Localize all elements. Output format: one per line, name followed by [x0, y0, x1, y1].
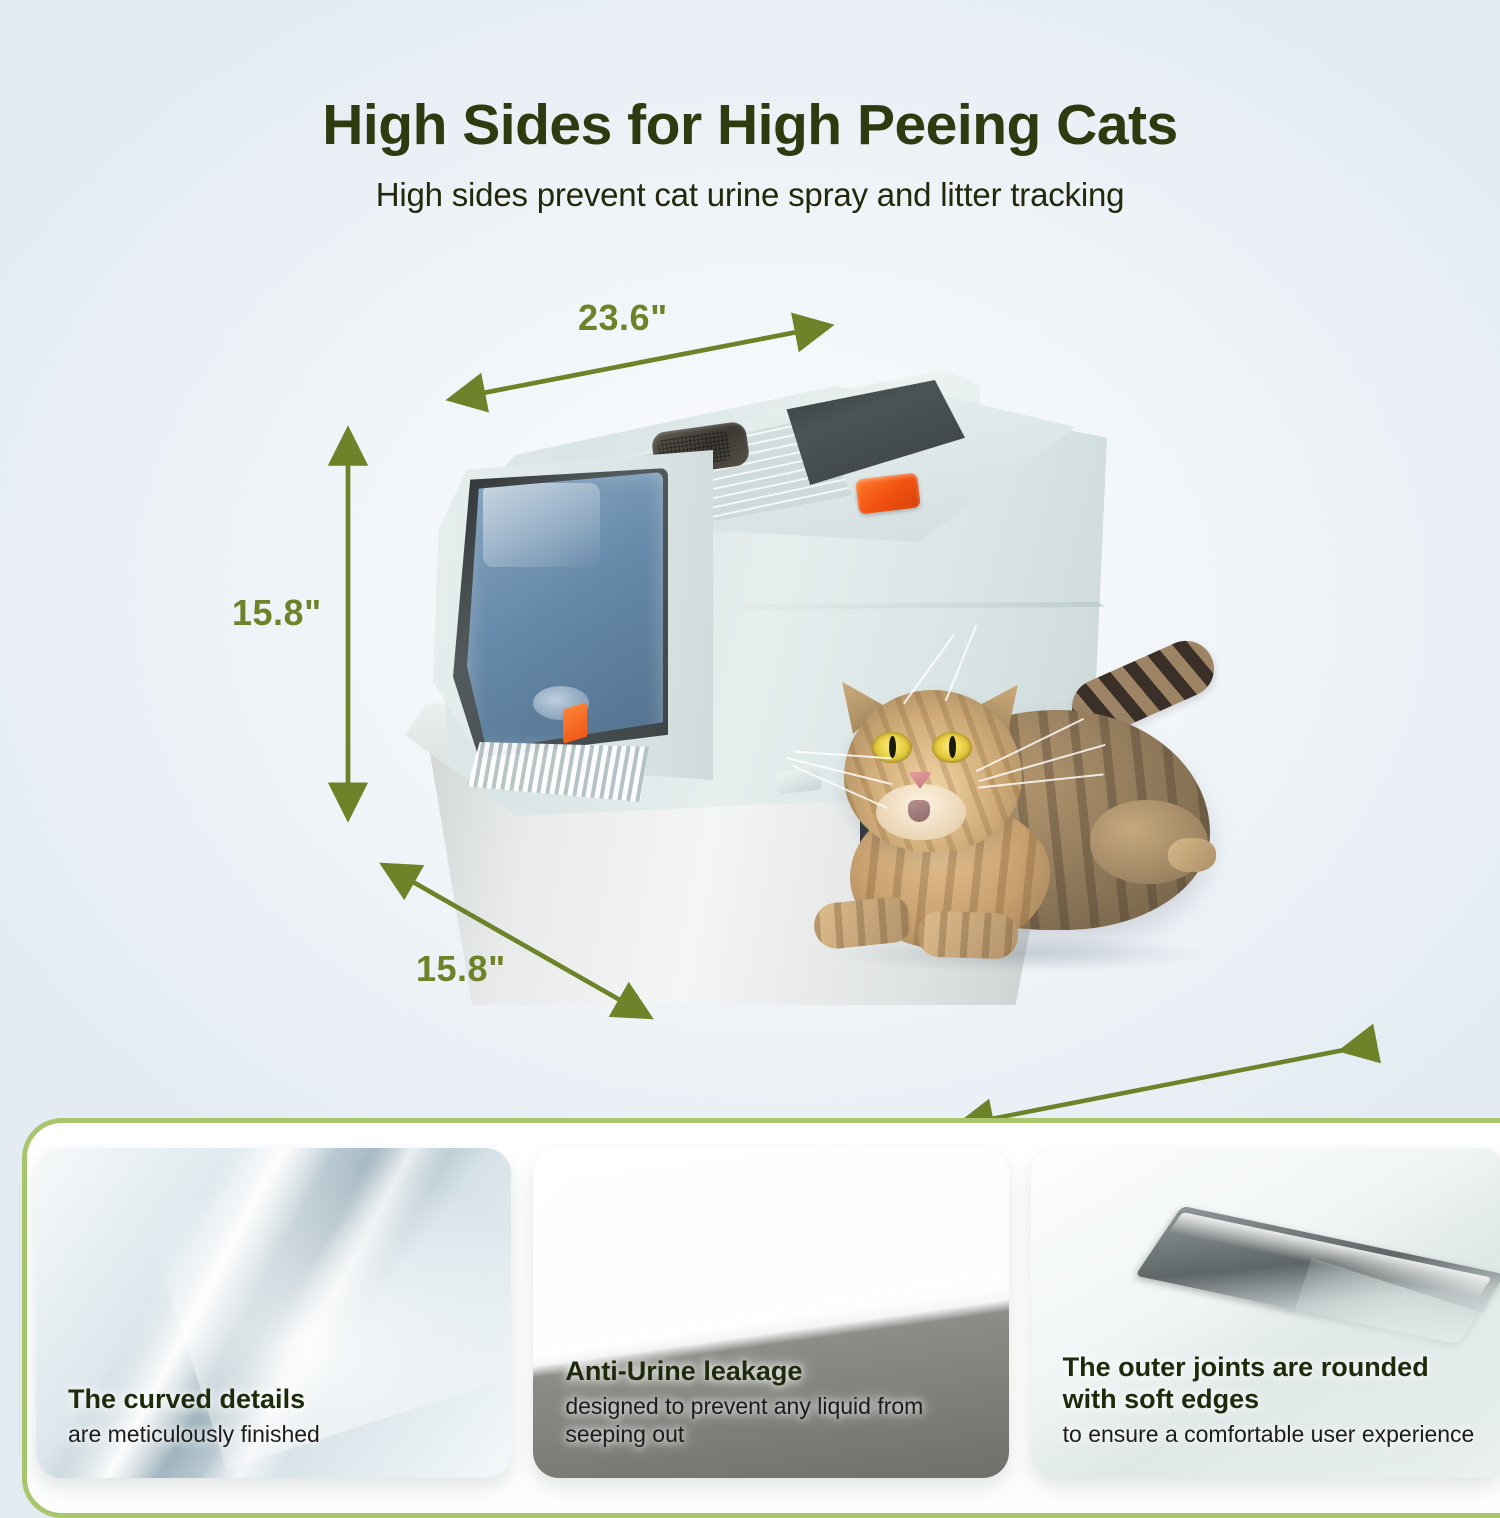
feature-card-heading: The curved details: [68, 1384, 485, 1416]
cat-photo: [790, 650, 1210, 990]
dimension-width-label: 23.6": [578, 297, 668, 339]
cat-eye-right: [932, 732, 972, 763]
feature-card: The curved details are meticulously fini…: [36, 1148, 511, 1478]
feature-card-heading: Anti-Urine leakage: [565, 1356, 982, 1388]
feature-card: The outer joints are rounded with soft e…: [1031, 1148, 1500, 1478]
page-subtitle: High sides prevent cat urine spray and l…: [0, 176, 1500, 214]
page-title: High Sides for High Peeing Cats: [0, 96, 1500, 156]
feature-card-text: The curved details are meticulously fini…: [68, 1384, 485, 1448]
orange-latch-button: [855, 472, 921, 514]
feature-card-text: The outer joints are rounded with soft e…: [1063, 1352, 1480, 1448]
cat-mouth: [908, 800, 930, 822]
feature-card-body: designed to prevent any liquid from seep…: [565, 1392, 982, 1448]
feature-card-heading: The outer joints are rounded with soft e…: [1063, 1352, 1480, 1416]
dimension-depth-label: 15.8": [416, 948, 506, 990]
recessed-handle-slot: [1135, 1206, 1500, 1344]
cat-hind-paw: [1168, 838, 1216, 872]
feature-card-text: Anti-Urine leakage designed to prevent a…: [565, 1356, 982, 1448]
cat-front-paw-right: [917, 910, 1019, 959]
hero-product-scene: [0, 250, 1500, 1110]
feature-card-body: are meticulously finished: [68, 1420, 485, 1448]
feature-card: Anti-Urine leakage designed to prevent a…: [533, 1148, 1008, 1478]
feature-card-body: to ensure a comfortable user experience: [1063, 1420, 1480, 1448]
header: High Sides for High Peeing Cats High sid…: [0, 0, 1500, 214]
feature-card-list: The curved details are meticulously fini…: [36, 1148, 1500, 1478]
dimension-height-label: 15.8": [232, 592, 322, 634]
